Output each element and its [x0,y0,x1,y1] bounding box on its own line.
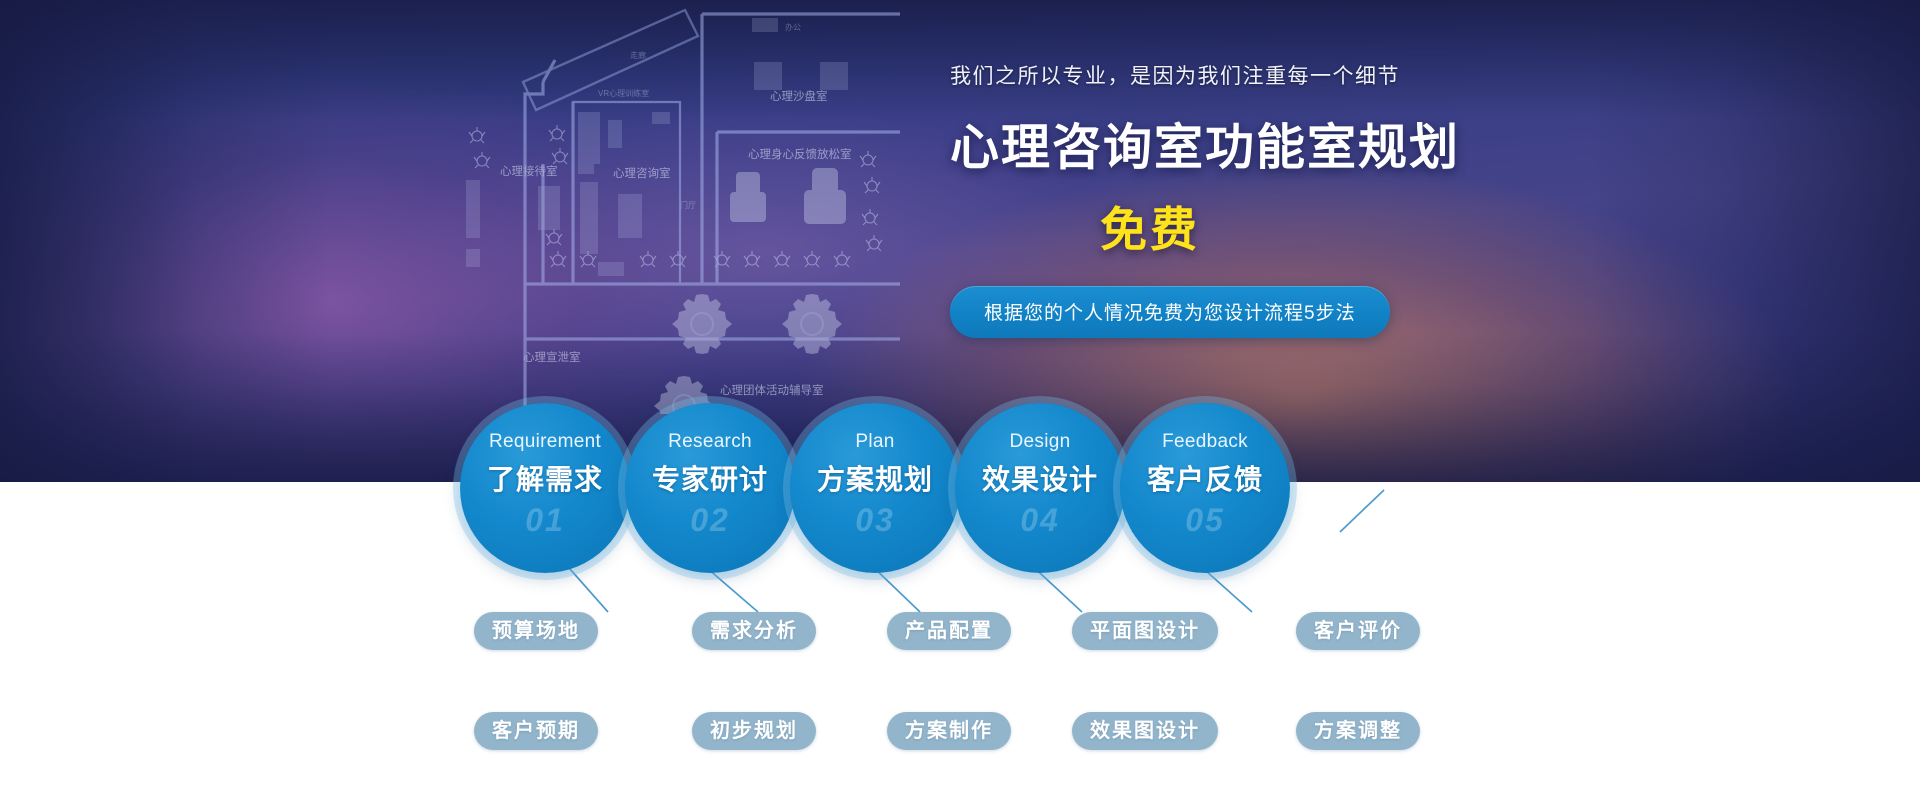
step-en-label: Feedback [1120,431,1290,453]
sub-pill-4-2[interactable]: 效果图设计 [1072,712,1218,750]
step-cn-label: 效果设计 [955,458,1125,498]
step-cn-label: 客户反馈 [1120,458,1290,498]
step-en-label: Plan [790,431,960,453]
sub-pill-2-1[interactable]: 需求分析 [692,612,816,650]
svg-text:走廊: 走廊 [630,50,646,60]
step-number: 01 [460,502,630,539]
step-cn-label: 方案规划 [790,458,960,498]
step-en-label: Design [955,431,1125,453]
floorplan-room-label: 心理接待室 [500,164,558,178]
svg-text:VR心理训练室: VR心理训练室 [598,88,649,98]
step-circle-2[interactable]: Research 专家研讨 02 [625,403,795,573]
sub-pill-5-2[interactable]: 方案调整 [1296,712,1420,750]
step-cn-label: 了解需求 [460,458,630,498]
step-number: 04 [955,502,1125,539]
floorplan-room-label: 心理沙盘室 [770,89,828,103]
step-number: 03 [790,502,960,539]
hero-highlight: 免费 [1100,191,1650,260]
sub-pill-5-1[interactable]: 客户评价 [1296,612,1420,650]
floorplan-illustration: 心理沙盘室 心理身心反馈放松室 心理接待室 心理咨询室 心理宣泄室 心理团体活动… [430,0,900,414]
sub-pill-3-1[interactable]: 产品配置 [887,612,1011,650]
step-circle-4[interactable]: Design 效果设计 04 [955,403,1125,573]
step-en-label: Requirement [460,431,630,453]
floorplan-room-label: 心理宣泄室 [523,350,581,364]
step-circle-5[interactable]: Feedback 客户反馈 05 [1120,403,1290,573]
sub-pill-4-1[interactable]: 平面图设计 [1072,612,1218,650]
step-circles: Requirement 了解需求 01 Research 专家研讨 02 Pla… [0,403,1920,573]
hero-title: 心理咨询室功能室规划 [950,108,1650,179]
step-number: 05 [1120,502,1290,539]
sub-pill-3-2[interactable]: 方案制作 [887,712,1011,750]
svg-text:办公: 办公 [785,22,801,32]
floorplan-room-label: 心理咨询室 [613,166,671,180]
step-cn-label: 专家研讨 [625,458,795,498]
hero-copy: 我们之所以专业，是因为我们注重每一个细节 心理咨询室功能室规划 免费 根据您的个… [950,60,1650,338]
floorplan-room-label: 心理身心反馈放松室 [748,147,852,161]
hero-subtitle: 我们之所以专业，是因为我们注重每一个细节 [950,60,1650,90]
step-circle-3[interactable]: Plan 方案规划 03 [790,403,960,573]
sub-pill-1-1[interactable]: 预算场地 [474,612,598,650]
sub-pill-1-2[interactable]: 客户预期 [474,712,598,750]
promo-banner: 心理沙盘室 心理身心反馈放松室 心理接待室 心理咨询室 心理宣泄室 心理团体活动… [0,0,1920,810]
step-number: 02 [625,502,795,539]
step-circle-1[interactable]: Requirement 了解需求 01 [460,403,630,573]
cta-button[interactable]: 根据您的个人情况免费为您设计流程5步法 [950,286,1390,338]
svg-text:门厅: 门厅 [680,200,696,210]
sub-pill-2-2[interactable]: 初步规划 [692,712,816,750]
step-en-label: Research [625,431,795,453]
floorplan-room-label: 心理团体活动辅导室 [720,383,824,397]
